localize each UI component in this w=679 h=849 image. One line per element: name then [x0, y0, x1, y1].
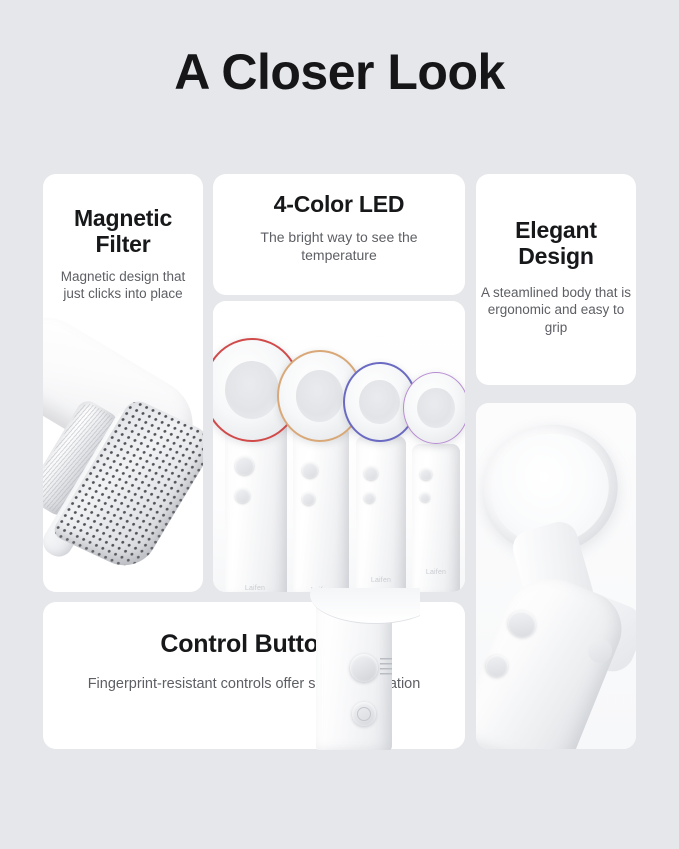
feature-card-led-image[interactable]: Laifen Laifen Laifen La — [213, 301, 465, 592]
dryer-rear-dial — [588, 639, 612, 663]
control-buttons-heading: Control Buttons — [43, 630, 465, 658]
dryer-barrel — [225, 420, 287, 592]
feature-card-led-text[interactable]: 4-Color LED The bright way to see the te… — [213, 174, 465, 295]
elegant-design-heading: Elegant Design — [484, 218, 628, 270]
dryer-purple-led: Laifen — [407, 372, 465, 592]
page-title: A Closer Look — [0, 43, 679, 101]
brand-mark: Laifen — [245, 585, 265, 592]
dryer-barrel — [356, 436, 406, 592]
infographic-page: A Closer Look Magnetic Filter Magnetic d… — [0, 0, 679, 849]
magnetic-filter-image — [43, 294, 203, 592]
feature-card-elegant-design-text[interactable]: Elegant Design A steamlined body that is… — [476, 174, 636, 385]
brand-mark: Laifen — [426, 569, 446, 576]
dryer-power-button — [235, 456, 254, 475]
elegant-design-heading-line2: Design — [518, 243, 593, 269]
dryer-mode-button — [420, 492, 430, 502]
brand-mark: Laifen — [371, 577, 391, 584]
magnetic-filter-heading: Magnetic Filter — [53, 206, 193, 258]
led-subtitle: The bright way to see the temperature — [239, 229, 439, 265]
dryer-power-button — [420, 468, 432, 480]
elegant-design-image — [476, 403, 636, 749]
dryer-mode-button — [302, 492, 315, 505]
dryer-blue-led: Laifen — [351, 362, 411, 592]
control-buttons-subtitle: Fingerprint-resistant controls offer smo… — [79, 675, 429, 694]
dryer-power-button — [302, 462, 318, 478]
dryer-mode-button — [235, 488, 250, 503]
feature-card-control-buttons[interactable]: Control Buttons Fingerprint-resistant co… — [43, 602, 465, 749]
brand-mark: Laifen — [311, 587, 331, 592]
magnetic-filter-heading-line2: Filter — [95, 231, 150, 257]
led-ring-light-purple — [403, 372, 465, 444]
led-heading: 4-Color LED — [213, 192, 465, 218]
magnetic-filter-heading-line1: Magnetic — [74, 205, 172, 231]
elegant-design-heading-line1: Elegant — [515, 217, 597, 243]
elegant-design-subtitle: A steamlined body that is ergonomic and … — [480, 284, 632, 336]
feature-card-magnetic-filter[interactable]: Magnetic Filter Magnetic design that jus… — [43, 174, 203, 592]
dryer-barrel — [293, 426, 349, 592]
feature-card-elegant-design-image[interactable] — [476, 403, 636, 749]
led-dryers-image: Laifen Laifen Laifen La — [213, 301, 465, 592]
